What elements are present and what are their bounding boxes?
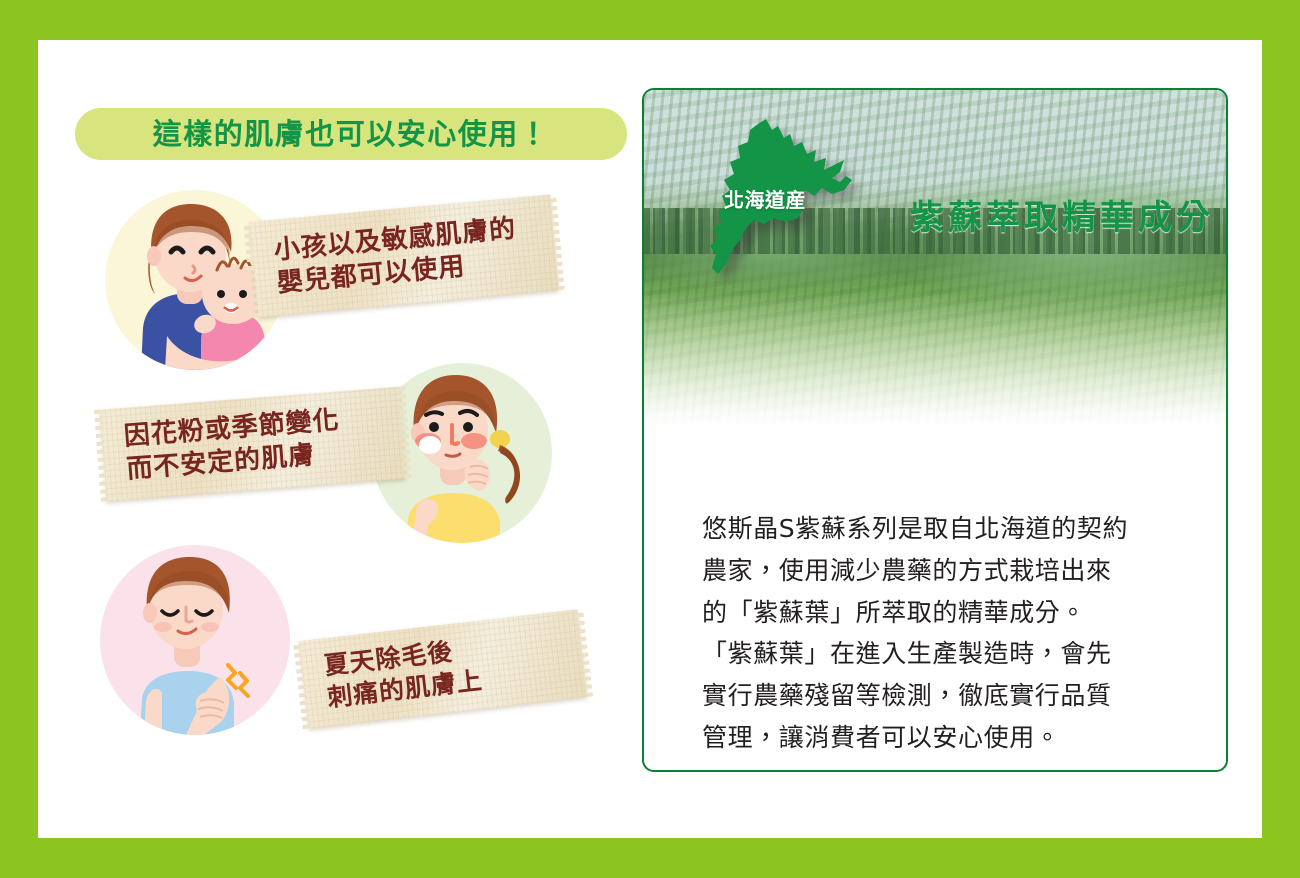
panel-body-text: 悠斯晶S紫蘇系列是取自北海道的契約 農家，使用減少農藥的方式栽培出來 的「紫蘇葉… <box>702 508 1172 759</box>
section-banner-label: 這樣的肌膚也可以安心使用！ <box>153 120 550 149</box>
content-card: 這樣的肌膚也可以安心使用！ <box>38 40 1262 838</box>
tape-label-2-text: 因花粉或季節變化 而不安定的肌膚 <box>101 404 343 489</box>
panel-body-paragraph: 悠斯晶S紫蘇系列是取自北海道的契約 農家，使用減少農藥的方式栽培出來 的「紫蘇葉… <box>702 508 1172 759</box>
hokkaido-map-icon: 北海道産 <box>694 116 864 286</box>
woman-touching-arm-illustration <box>100 545 290 735</box>
tape-label-3: 夏天除毛後 刺痛的肌膚上 <box>299 609 587 728</box>
tape-label-1-text: 小孩以及敏感肌膚的 嬰兒都可以使用 <box>251 213 521 303</box>
section-banner: 這樣的肌膚也可以安心使用！ <box>75 108 627 160</box>
panel-heading: 紫蘇萃取精華成分 <box>910 190 1214 239</box>
tape-label-1: 小孩以及敏感肌膚的 嬰兒都可以使用 <box>249 195 558 318</box>
tape-label-3-text: 夏天除毛後 刺痛的肌膚上 <box>300 633 484 717</box>
tape-label-2: 因花粉或季節變化 而不安定的肌膚 <box>100 387 406 502</box>
hokkaido-map-label: 北海道産 <box>724 184 806 213</box>
left-column: 這樣的肌膚也可以安心使用！ <box>75 105 635 805</box>
